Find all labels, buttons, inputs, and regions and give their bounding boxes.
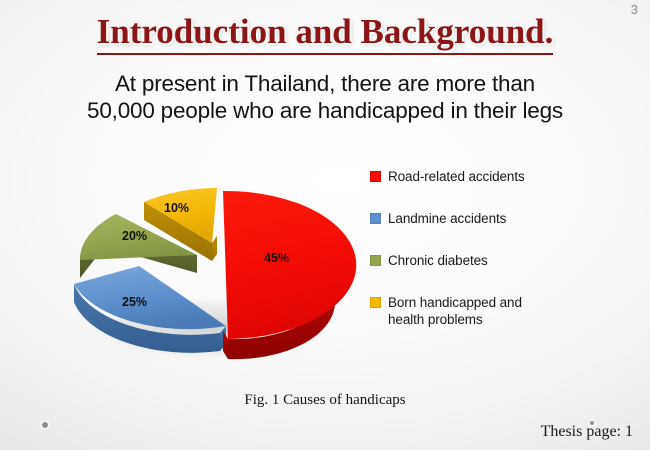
figure-caption: Fig. 1 Causes of handicaps: [0, 392, 650, 409]
legend-label-born-handicapped: Born handicapped and health problems: [388, 294, 522, 328]
pie-chart-svg: 20% 10% 25% 45%: [60, 160, 360, 375]
footer-thesis-page: Thesis page: 1: [541, 423, 633, 441]
legend-item-born-handicapped[interactable]: Born handicapped and health problems: [370, 294, 630, 328]
legend-swatch-road-related-accidents: [370, 171, 381, 182]
legend-label-chronic-diabetes: Chronic diabetes: [388, 252, 488, 269]
decorative-dot-icon: [590, 421, 594, 425]
pie-slice-label-born-handicapped: 10%: [164, 201, 189, 215]
pie-slice-label-road-related-accidents: 45%: [264, 251, 289, 265]
pie-slice-road-related-accidents[interactable]: 45%: [223, 191, 356, 359]
legend-label-road-related-accidents: Road-related accidents: [388, 168, 525, 185]
legend-label-line-1: Landmine accidents: [388, 211, 506, 226]
pie-slice-label-landmine-accidents: 25%: [122, 295, 147, 309]
page-title-text: Introduction and Background.: [97, 12, 554, 55]
slide-canvas: 3 Introduction and Background. At presen…: [0, 0, 650, 450]
pie-chart: 20% 10% 25% 45%: [60, 160, 360, 375]
legend-label-landmine-accidents: Landmine accidents: [388, 210, 506, 227]
legend-swatch-chronic-diabetes: [370, 255, 381, 266]
legend-label-line-2: health problems: [388, 312, 483, 327]
decorative-dot-icon: [42, 422, 48, 428]
legend-item-road-related-accidents[interactable]: Road-related accidents: [370, 168, 630, 185]
subtitle-line-1: At present in Thailand, there are more t…: [12, 70, 638, 97]
legend-label-line-1: Chronic diabetes: [388, 253, 488, 268]
legend-swatch-born-handicapped: [370, 297, 381, 308]
chart-legend: Road-related accidents Landmine accident…: [370, 168, 630, 328]
legend-item-landmine-accidents[interactable]: Landmine accidents: [370, 210, 630, 227]
legend-item-chronic-diabetes[interactable]: Chronic diabetes: [370, 252, 630, 269]
legend-label-line-1: Born handicapped and: [388, 295, 522, 310]
pie-slice-label-chronic-diabetes: 20%: [122, 229, 147, 243]
legend-label-line-1: Road-related accidents: [388, 169, 525, 184]
legend-swatch-landmine-accidents: [370, 213, 381, 224]
page-title: Introduction and Background.: [0, 12, 650, 55]
subtitle-line-2: 50,000 people who are handicapped in the…: [12, 97, 638, 124]
subtitle-text: At present in Thailand, there are more t…: [12, 70, 638, 124]
